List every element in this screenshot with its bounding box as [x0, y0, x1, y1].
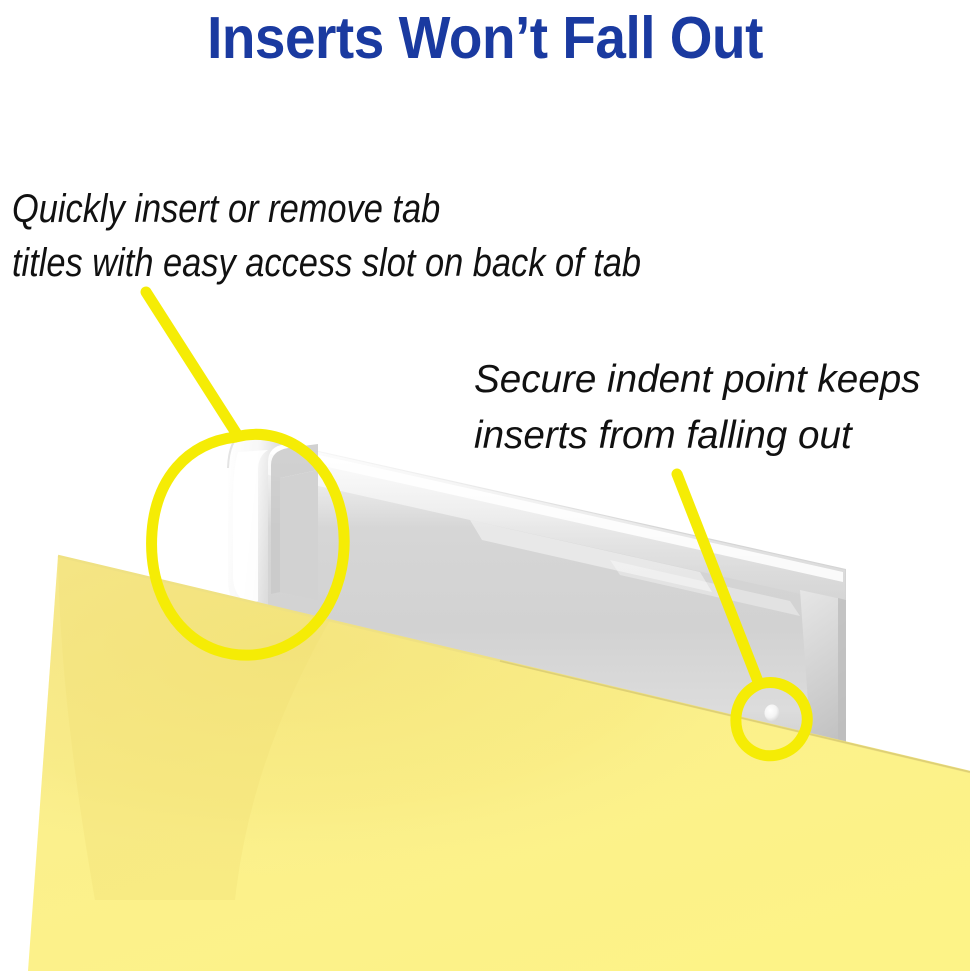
- slot-access-callout-line-2: titles with easy access slot on back of …: [12, 236, 641, 290]
- product-feature-infographic: Inserts Won’t Fall Out Quickly insert or…: [0, 0, 970, 971]
- indent-point-callout-line-1: Secure indent point keeps: [474, 352, 920, 408]
- indent-point-callout: Secure indent point keeps inserts from f…: [474, 352, 920, 464]
- indent-point-callout-line-2: inserts from falling out: [474, 408, 920, 464]
- slot-access-callout-line-1: Quickly insert or remove tab: [12, 182, 641, 236]
- slot-access-leader-line: [146, 292, 238, 436]
- product-illustration: [0, 0, 970, 971]
- page-title: Inserts Won’t Fall Out: [34, 6, 936, 70]
- secure-indent-point: [765, 705, 780, 722]
- slot-access-callout: Quickly insert or remove tab titles with…: [12, 182, 641, 290]
